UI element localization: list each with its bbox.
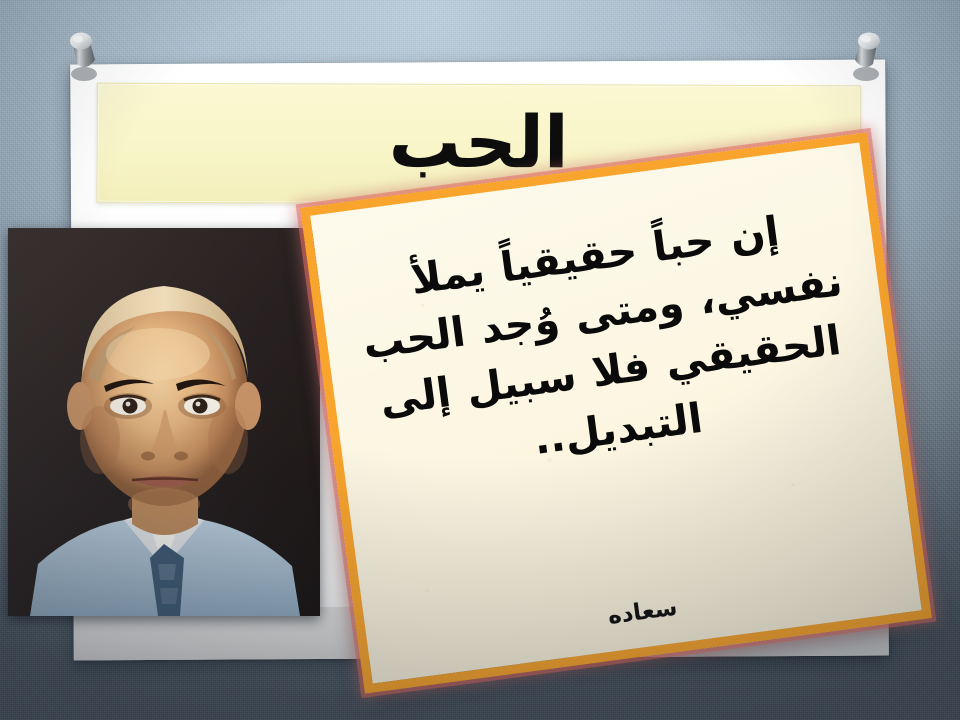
quote-card: إن حباً حقيقياً يملأ نفسي، ومتى وُجد الح… [300, 132, 932, 693]
push-pin-icon-right [848, 30, 888, 86]
page-title: الحب [389, 106, 569, 179]
quote-content: إن حباً حقيقياً يملأ نفسي، ومتى وُجد الح… [310, 142, 922, 683]
push-pin-icon-left [62, 30, 102, 86]
presentation-slide: الحب [0, 0, 960, 720]
portrait-photo [8, 228, 320, 616]
quote-text: إن حباً حقيقياً يملأ نفسي، ومتى وُجد الح… [346, 194, 866, 490]
